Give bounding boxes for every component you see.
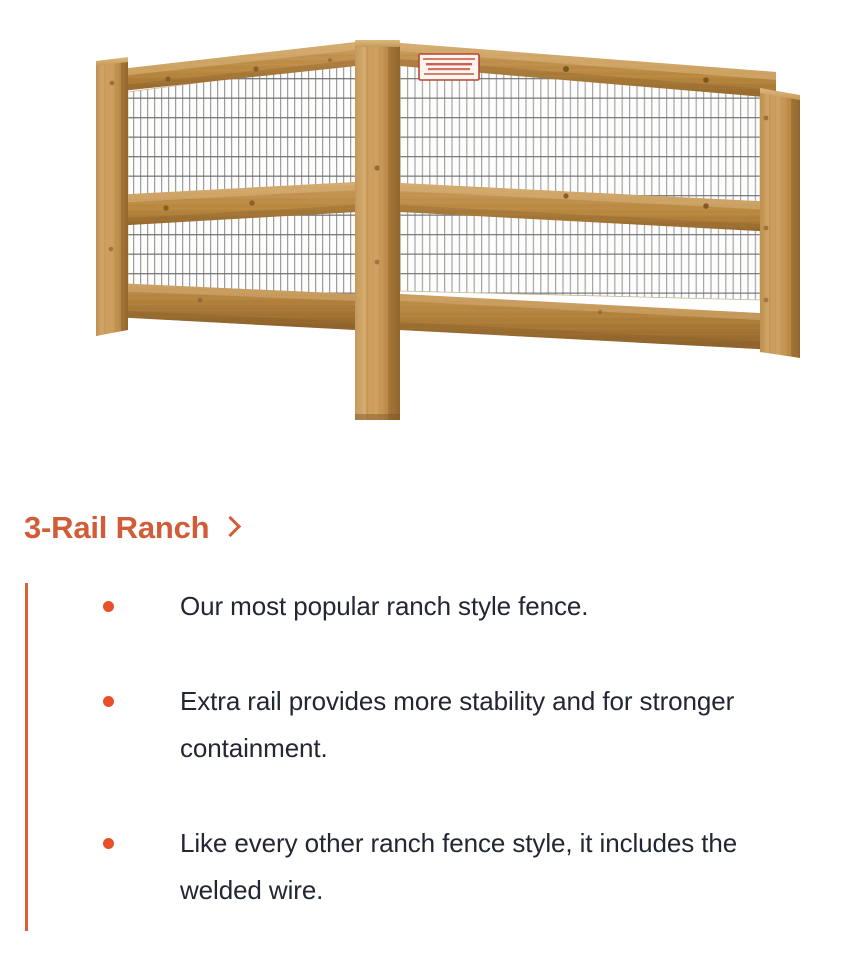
list-item: Like every other ranch fence style, it i… [95,820,825,914]
list-item-text: Our most popular ranch style fence. [180,591,588,621]
product-title-link[interactable]: 3-Rail Ranch [24,512,238,543]
list-item: Extra rail provides more stability and f… [95,678,825,772]
rail-screw [249,200,254,205]
list-item-text: Extra rail provides more stability and f… [180,686,734,763]
post-screw [375,260,380,265]
post-screw [764,298,769,303]
bullet-dot-icon [103,696,114,707]
rail-screw [563,193,568,198]
bullet-dot-icon [103,601,114,612]
fence-corner-post [355,40,400,420]
list-item-text: Like every other ranch fence style, it i… [180,828,737,905]
page-title: 3-Rail Ranch [24,512,209,543]
rail-screw [163,205,168,210]
rail-screw [253,66,258,71]
rail-screw [563,66,569,72]
post-screw [109,247,114,252]
corner-post-cap [355,40,400,47]
rail-screw [198,298,203,303]
chevron-right-icon[interactable] [220,516,241,537]
post-screw [374,165,379,170]
post-screw [764,116,769,121]
fence-product-image [0,0,848,470]
fence-illustration [0,0,848,470]
post-screw [110,81,115,86]
fence-post-left [96,57,128,336]
feature-list: Our most popular ranch style fence. Extr… [95,583,825,914]
bullet-dot-icon [103,838,114,849]
rail-screw [703,203,709,209]
rail-screw [703,77,709,83]
fence-panel-left [96,42,365,336]
rail-screw [328,58,332,62]
left-accent-bar [25,583,28,931]
post-screw [764,226,769,231]
rail-screw [598,310,602,314]
list-item: Our most popular ranch style fence. [95,583,825,630]
fence-post-right [760,88,800,358]
product-tag-label [419,54,479,80]
product-description-section: 3-Rail Ranch Our most popular ranch styl… [0,470,848,963]
rail-screw [165,76,170,81]
